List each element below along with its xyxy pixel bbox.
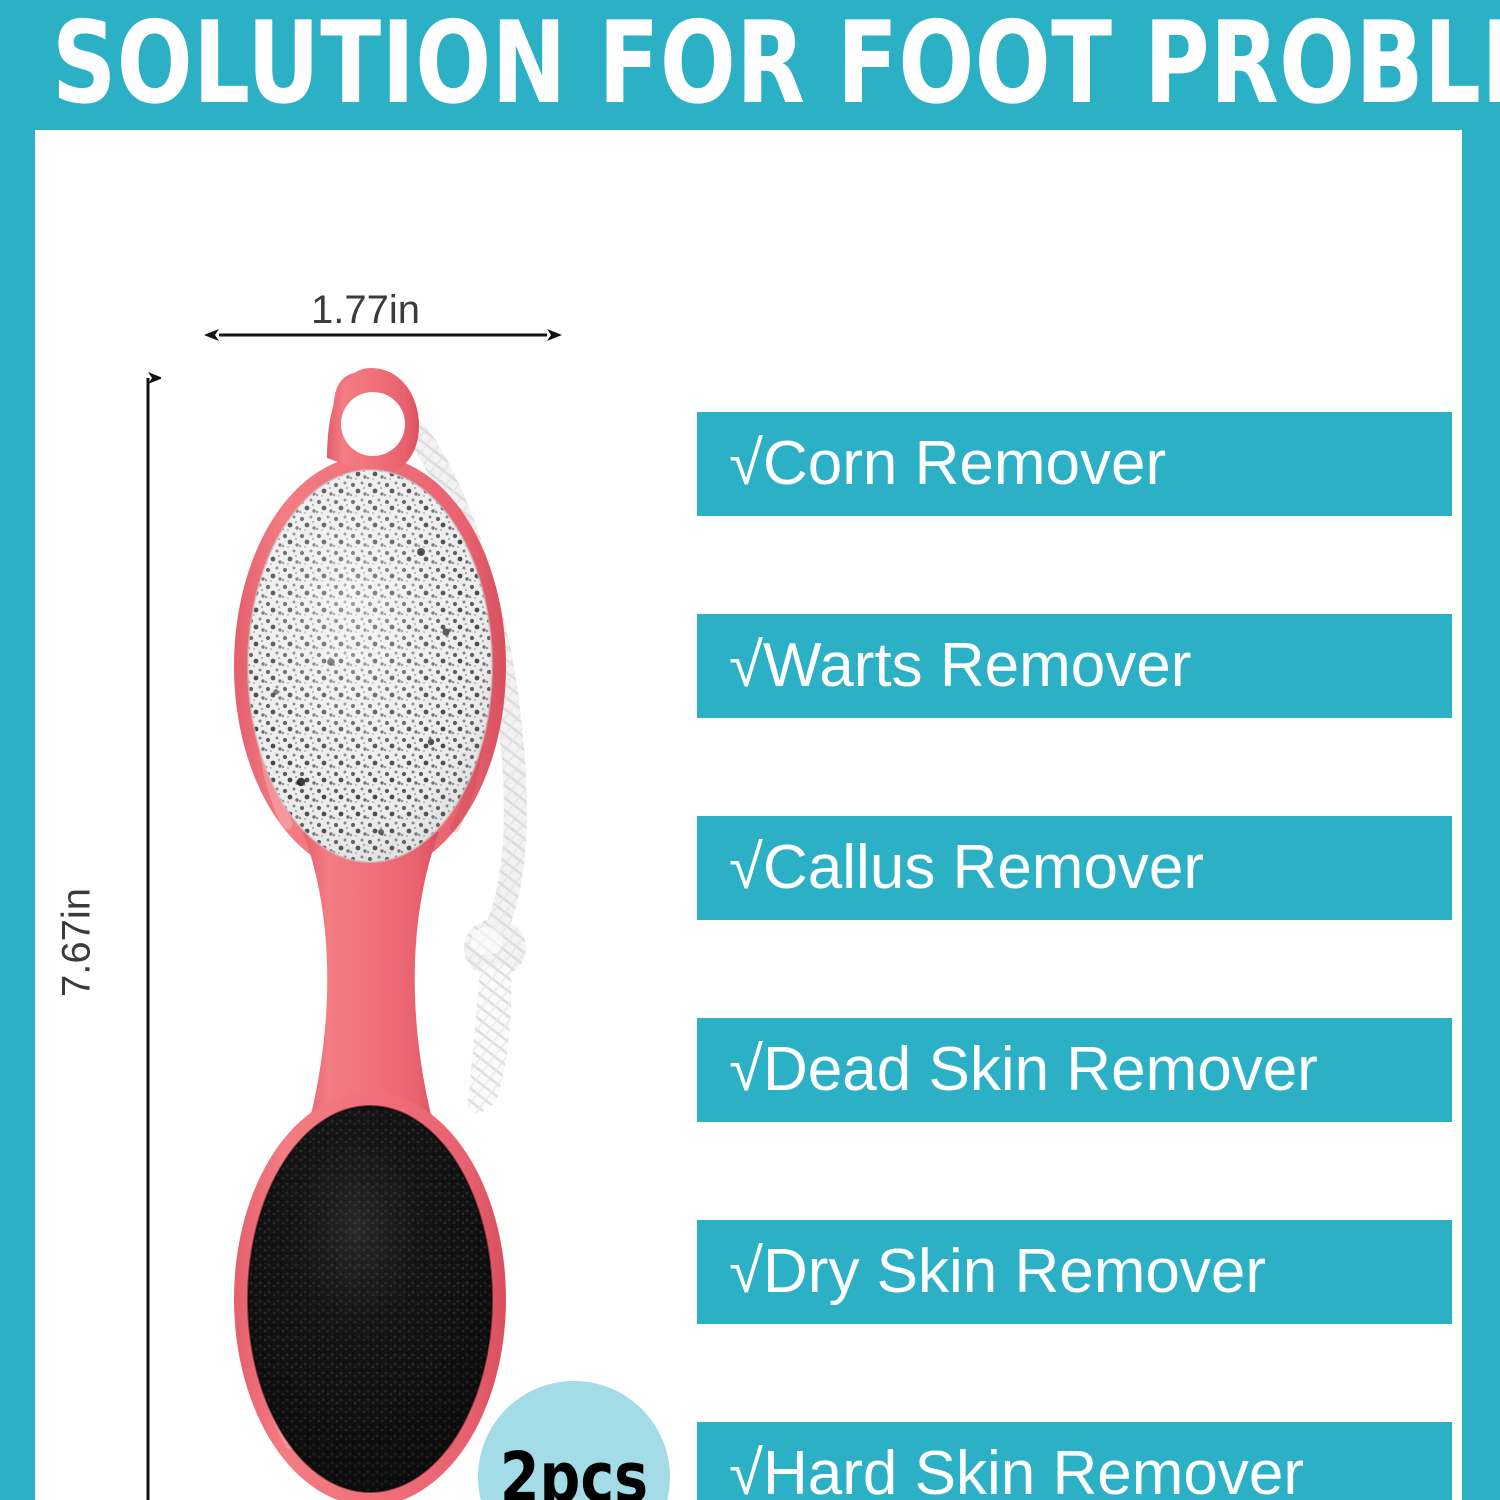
product-image bbox=[231, 362, 651, 1500]
feature-bar-hard-skin-remover: √Hard Skin Remover bbox=[697, 1422, 1452, 1500]
feature-label: √Corn Remover bbox=[729, 433, 1166, 495]
height-dimension-arrow bbox=[135, 362, 161, 1500]
foot-file-illustration bbox=[231, 362, 651, 1500]
feature-bar-dry-skin-remover: √Dry Skin Remover bbox=[697, 1220, 1452, 1324]
page-title: SOLUTION FOR FOOT PROBLEM bbox=[52, 0, 1363, 133]
feature-list: √Corn Remover √Warts Remover √Callus Rem… bbox=[697, 412, 1457, 1500]
quantity-badge-label: 2pcs bbox=[486, 1369, 663, 1500]
emery-pad bbox=[248, 1106, 492, 1492]
feature-bar-callus-remover: √Callus Remover bbox=[697, 816, 1452, 920]
frame-border-left bbox=[0, 0, 35, 1500]
feature-bar-corn-remover: √Corn Remover bbox=[697, 412, 1452, 516]
feature-label: √Dry Skin Remover bbox=[729, 1241, 1266, 1303]
feature-bar-warts-remover: √Warts Remover bbox=[697, 614, 1452, 718]
hang-hole bbox=[341, 392, 405, 456]
quantity-badge: 2pcs bbox=[478, 1381, 670, 1500]
height-dimension-label: 7.67in bbox=[55, 863, 100, 1023]
feature-label: √Hard Skin Remover bbox=[729, 1443, 1304, 1500]
feature-label: √Dead Skin Remover bbox=[729, 1039, 1318, 1101]
width-dimension-arrow bbox=[203, 322, 563, 348]
pumice-stone-pad bbox=[248, 470, 492, 862]
product-infographic: SOLUTION FOR FOOT PROBLEM 1.77in 7.67in bbox=[0, 0, 1500, 1500]
feature-bar-dead-skin-remover: √Dead Skin Remover bbox=[697, 1018, 1452, 1122]
feature-label: √Warts Remover bbox=[729, 635, 1191, 697]
feature-label: √Callus Remover bbox=[729, 837, 1204, 899]
frame-border-right bbox=[1462, 0, 1500, 1500]
content-area: 1.77in 7.67in bbox=[35, 130, 1462, 1500]
